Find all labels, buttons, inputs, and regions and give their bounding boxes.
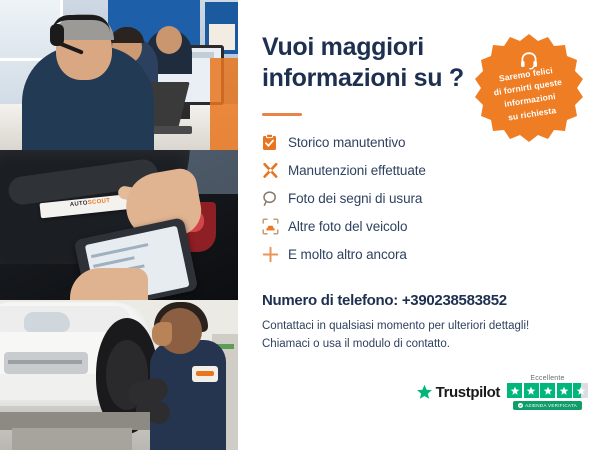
star-icon: [540, 383, 555, 398]
rating-word: Eccellente: [530, 375, 564, 382]
trustpilot-rating: Eccellente: [507, 375, 588, 410]
tools-cross-icon: [262, 162, 288, 179]
list-item: Foto dei segni di usura: [262, 184, 512, 212]
verified-company-badge: AZIENDA VERIFICATA: [513, 401, 582, 410]
headline-line-1: Vuoi maggiori: [262, 32, 492, 63]
check-circle-icon: [518, 403, 523, 408]
list-item-label: E molto altro ancora: [288, 247, 407, 262]
list-item-label: Storico manutentivo: [288, 135, 405, 150]
feature-list: Storico manutentivo Manutenzioni effettu…: [262, 128, 512, 268]
trustpilot-logo: Trustpilot: [416, 384, 500, 401]
contact-subtext-line-2: Chiamaci o usa il modulo di contatto.: [262, 336, 552, 354]
list-item-label: Foto dei segni di usura: [288, 191, 422, 206]
magnifier-icon: [262, 190, 288, 207]
list-item-label: Manutenzioni effettuate: [288, 163, 426, 178]
star-icon: [524, 383, 539, 398]
star-rating: [507, 383, 588, 398]
photo-mechanic-wheel: [0, 300, 238, 450]
trustpilot-widget[interactable]: Trustpilot Eccellente: [416, 375, 588, 410]
list-item: Altre foto del veicolo: [262, 212, 512, 240]
plus-icon: [262, 246, 288, 263]
verified-label: AZIENDA VERIFICATA: [525, 403, 577, 408]
list-item: E molto altro ancora: [262, 240, 512, 268]
photo-call-center: [0, 0, 238, 150]
clipboard-check-icon: [262, 134, 288, 151]
list-item: Storico manutentivo: [262, 128, 512, 156]
photo-column: AUTOSCOUT: [0, 0, 238, 450]
contact-subtext: Contattaci in qualsiasi momento per ulte…: [262, 318, 552, 354]
trustpilot-star-icon: [416, 384, 433, 401]
star-icon-partial: [573, 383, 588, 398]
star-icon: [507, 383, 522, 398]
title-underline: [262, 113, 302, 116]
content-panel: Vuoi maggiori informazioni su ? Saremo f…: [238, 0, 600, 450]
page-title: Vuoi maggiori informazioni su ?: [262, 32, 492, 93]
photo-car-measurement: AUTOSCOUT: [0, 150, 238, 300]
car-focus-frame-icon: [262, 218, 288, 235]
trustpilot-name: Trustpilot: [436, 384, 500, 401]
headline-line-2: informazioni su ?: [262, 63, 492, 94]
phone-number-label[interactable]: Numero di telefono: +390238583852: [262, 292, 507, 309]
contact-subtext-line-1: Contattaci in qualsiasi momento per ulte…: [262, 318, 552, 336]
list-item-label: Altre foto del veicolo: [288, 219, 407, 234]
promo-banner: AUTOSCOUT Vuoi maggiori informazioni su …: [0, 0, 600, 450]
star-icon: [557, 383, 572, 398]
list-item: Manutenzioni effettuate: [262, 156, 512, 184]
